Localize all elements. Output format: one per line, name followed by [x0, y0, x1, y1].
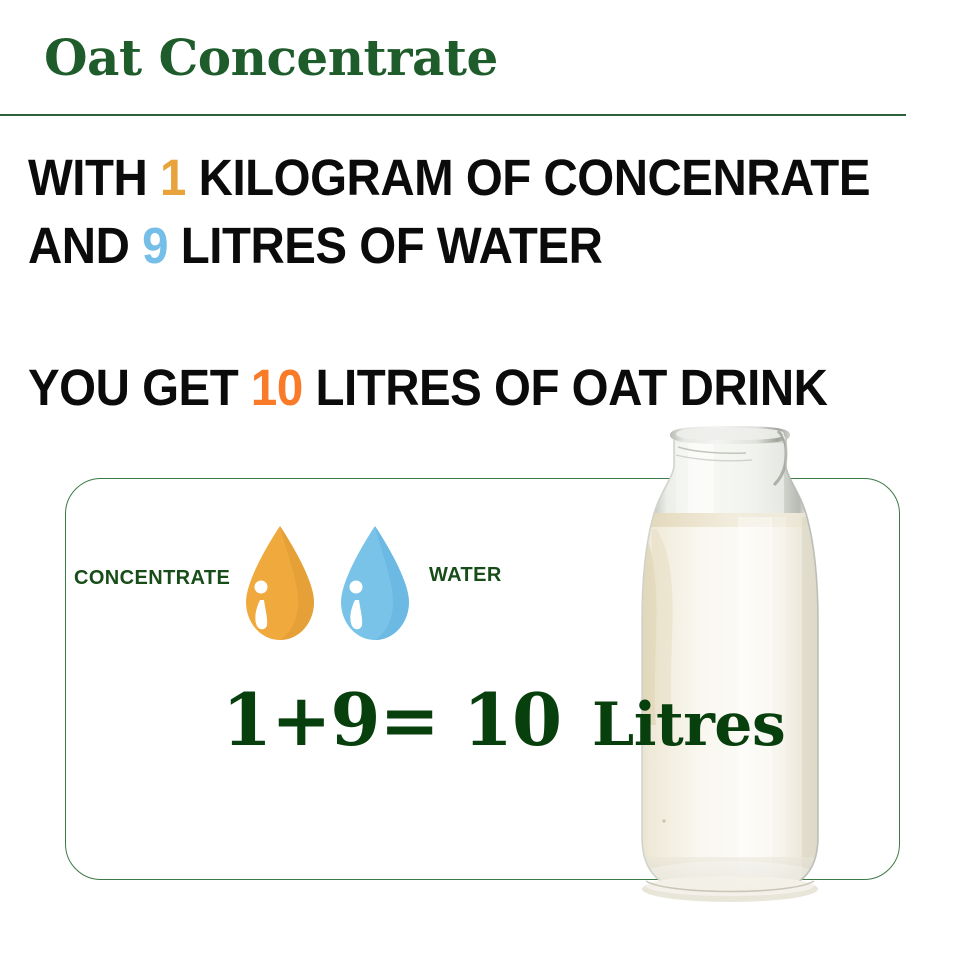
water-label: WATER — [429, 564, 502, 587]
milk-bottle-image — [620, 425, 840, 905]
headline-3-number: 10 — [251, 359, 303, 416]
headline-1-number: 1 — [160, 149, 186, 206]
headline-1-suffix: KILOGRAM OF CONCENRATE — [186, 149, 870, 206]
headline-line-1: WITH 1 KILOGRAM OF CONCENRATE — [28, 152, 870, 203]
headline-3-prefix: YOU GET — [28, 359, 251, 416]
unit-text: Litres — [592, 695, 785, 755]
headline-2-prefix: AND — [28, 217, 142, 274]
headline-2-number: 9 — [142, 217, 168, 274]
concentrate-label: CONCENTRATE — [74, 567, 230, 590]
page-title: Oat Concentrate — [44, 32, 498, 85]
concentrate-droplet-icon — [240, 524, 320, 642]
headline-2-suffix: LITRES OF WATER — [168, 217, 602, 274]
title-divider — [0, 114, 906, 116]
headline-1-prefix: WITH — [28, 149, 160, 206]
droplet-group — [240, 524, 420, 644]
headline-line-2: AND 9 LITRES OF WATER — [28, 220, 602, 271]
equation-text: 1+9= 10 — [222, 684, 561, 756]
headline-3-suffix: LITRES OF OAT DRINK — [303, 359, 828, 416]
water-droplet-icon — [335, 524, 415, 642]
infographic-canvas: Oat Concentrate WITH 1 KILOGRAM OF CONCE… — [0, 0, 960, 960]
headline-line-3: YOU GET 10 LITRES OF OAT DRINK — [28, 362, 827, 413]
